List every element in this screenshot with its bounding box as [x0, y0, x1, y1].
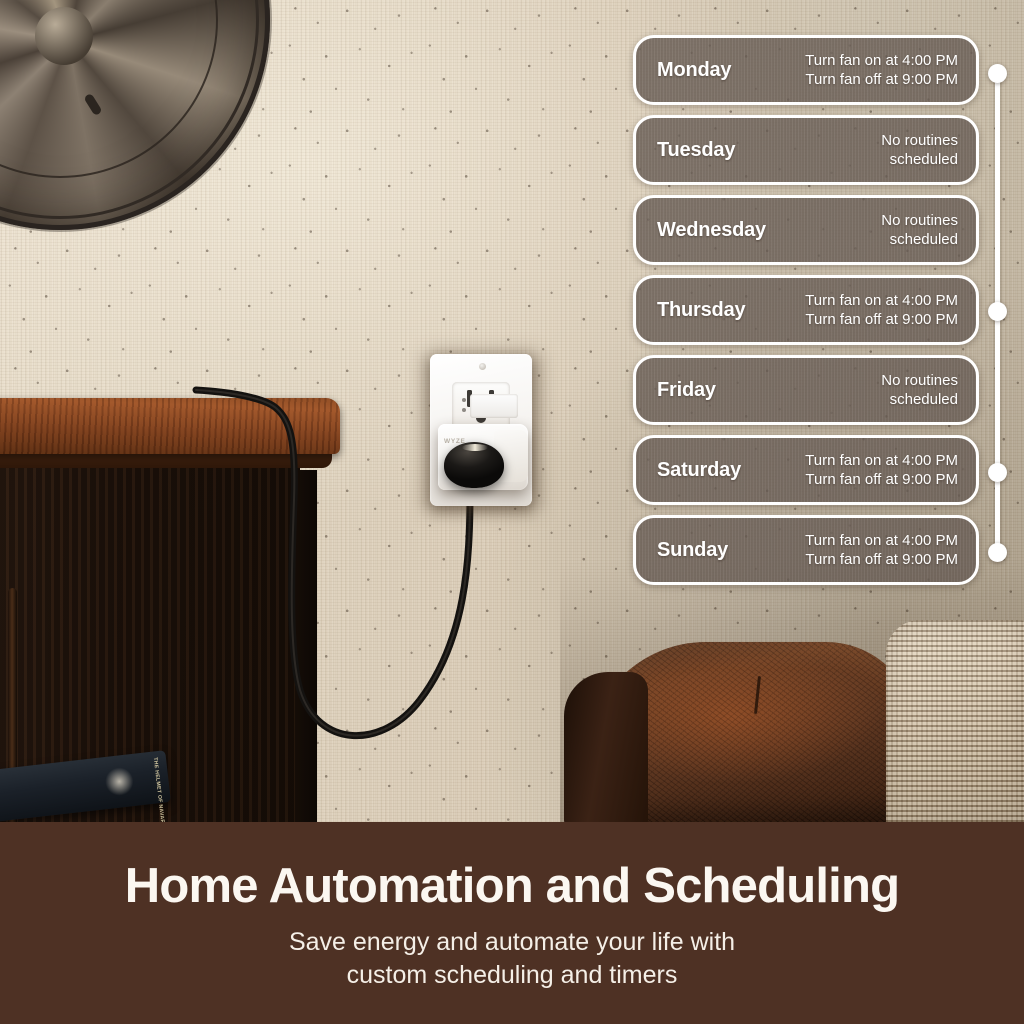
day-name-label: Monday — [657, 59, 731, 82]
schedule-card-friday[interactable]: FridayNo routinesscheduled — [633, 355, 979, 425]
schedule-card-saturday[interactable]: SaturdayTurn fan on at 4:00 PMTurn fan o… — [633, 435, 979, 505]
day-routine-text: No routinesscheduled — [881, 371, 958, 409]
smart-plug-button-bar[interactable] — [470, 394, 518, 418]
caption-band: Home Automation and Scheduling Save ener… — [0, 822, 1024, 1024]
day-name-label: Tuesday — [657, 139, 735, 162]
timeline-dot-thursday[interactable] — [988, 302, 1007, 321]
routine-line-1: No routines — [881, 211, 958, 230]
day-routine-text: Turn fan on at 4:00 PMTurn fan off at 9:… — [805, 531, 958, 569]
timeline-dot-saturday[interactable] — [988, 463, 1007, 482]
routine-line-2: Turn fan off at 9:00 PM — [805, 310, 958, 329]
day-name-label: Thursday — [657, 299, 745, 322]
day-routine-text: No routinesscheduled — [881, 211, 958, 249]
routine-line-1: Turn fan on at 4:00 PM — [805, 291, 958, 310]
routine-line-2: scheduled — [881, 230, 958, 249]
product-marketing-image: THE HELMET OF NAVARRE — [0, 0, 1024, 1024]
plug-head-highlight — [462, 444, 488, 451]
timeline-dot-sunday[interactable] — [988, 543, 1007, 562]
caption-subtitle-line-1: Save energy and automate your life with — [289, 926, 735, 959]
weekly-schedule-list: MondayTurn fan on at 4:00 PMTurn fan off… — [633, 35, 979, 595]
smart-plug-power-led — [462, 408, 466, 412]
day-name-label: Sunday — [657, 539, 728, 562]
smart-plug-status-led — [462, 398, 466, 402]
timeline-dot-monday[interactable] — [988, 64, 1007, 83]
schedule-card-tuesday[interactable]: TuesdayNo routinesscheduled — [633, 115, 979, 185]
schedule-card-monday[interactable]: MondayTurn fan on at 4:00 PMTurn fan off… — [633, 35, 979, 105]
schedule-card-wednesday[interactable]: WednesdayNo routinesscheduled — [633, 195, 979, 265]
routine-line-1: No routines — [881, 371, 958, 390]
routine-line-1: No routines — [881, 131, 958, 150]
schedule-card-sunday[interactable]: SundayTurn fan on at 4:00 PMTurn fan off… — [633, 515, 979, 585]
routine-line-2: Turn fan off at 9:00 PM — [805, 550, 958, 569]
routine-line-1: Turn fan on at 4:00 PM — [805, 531, 958, 550]
day-routine-text: Turn fan on at 4:00 PMTurn fan off at 9:… — [805, 51, 958, 89]
day-routine-text: No routinesscheduled — [881, 131, 958, 169]
schedule-card-thursday[interactable]: ThursdayTurn fan on at 4:00 PMTurn fan o… — [633, 275, 979, 345]
day-routine-text: Turn fan on at 4:00 PMTurn fan off at 9:… — [805, 291, 958, 329]
routine-line-1: Turn fan on at 4:00 PM — [805, 451, 958, 470]
routine-line-2: Turn fan off at 9:00 PM — [805, 70, 958, 89]
routine-line-2: scheduled — [881, 390, 958, 409]
day-routine-text: Turn fan on at 4:00 PMTurn fan off at 9:… — [805, 451, 958, 489]
day-name-label: Wednesday — [657, 219, 766, 242]
caption-subtitle-line-2: custom scheduling and timers — [289, 959, 735, 992]
routine-line-2: Turn fan off at 9:00 PM — [805, 470, 958, 489]
faceplate-screw — [479, 363, 486, 370]
routine-line-2: scheduled — [881, 150, 958, 169]
day-name-label: Friday — [657, 379, 716, 402]
day-name-label: Saturday — [657, 459, 741, 482]
caption-title: Home Automation and Scheduling — [125, 858, 900, 914]
routine-line-1: Turn fan on at 4:00 PM — [805, 51, 958, 70]
caption-subtitle: Save energy and automate your life with … — [289, 926, 735, 992]
